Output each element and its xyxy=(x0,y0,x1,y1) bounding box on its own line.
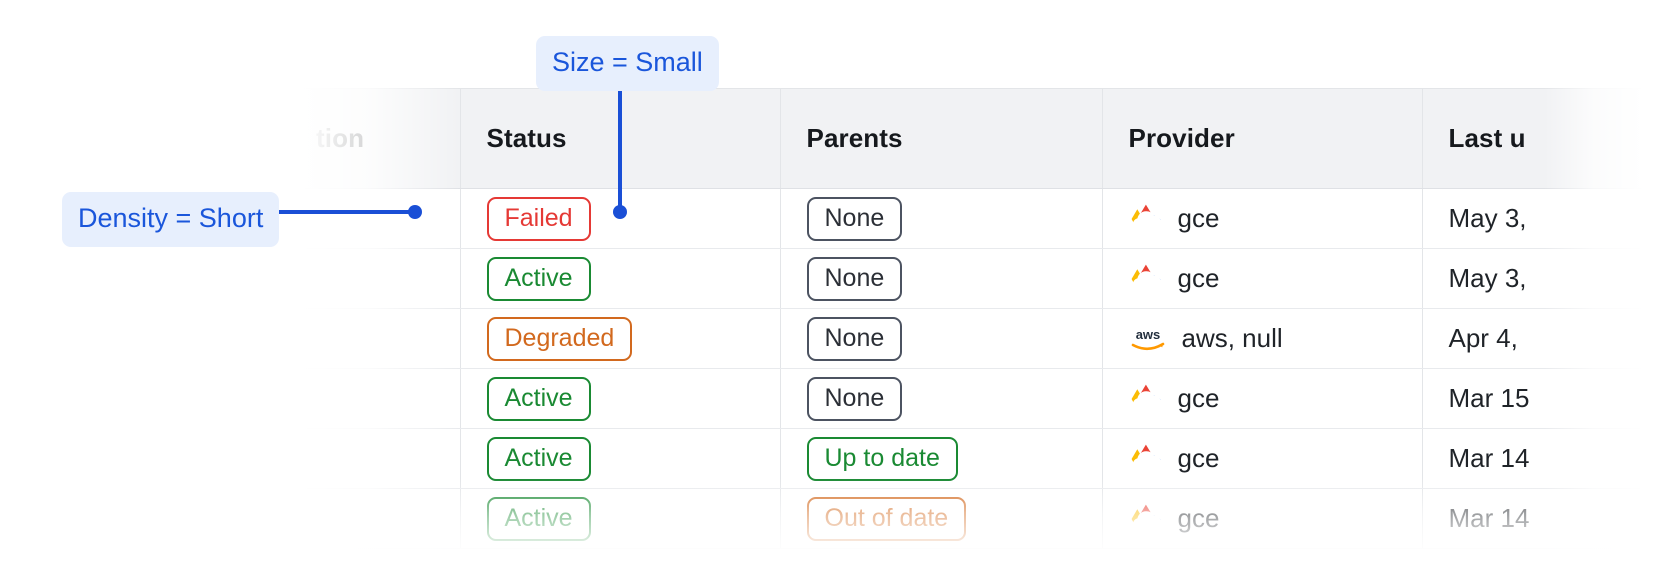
cell-provider: gce xyxy=(1102,429,1422,489)
cell-parents: None xyxy=(780,189,1102,249)
provider-label: gce xyxy=(1178,443,1220,474)
table-row[interactable]: ActiveNonegceMay 3, xyxy=(290,249,1672,309)
cell-last-updated: Mar 14 xyxy=(1422,429,1672,489)
cell-parents: None xyxy=(780,309,1102,369)
column-header-parents[interactable]: Parents xyxy=(780,89,1102,189)
cell-last-updated: Mar 14 xyxy=(1422,489,1672,549)
column-header-description[interactable]: tion xyxy=(290,89,460,189)
status-badge: Failed xyxy=(487,197,591,241)
cell-last-updated: May 3, xyxy=(1422,189,1672,249)
table-row[interactable]: ActiveOut of dategceMar 14 xyxy=(290,489,1672,549)
svg-text:aws: aws xyxy=(1135,327,1160,342)
parents-badge: None xyxy=(807,377,903,421)
table-row[interactable]: DegradedNoneawsaws, nullApr 4, xyxy=(290,309,1672,369)
provider-label: gce xyxy=(1178,263,1220,294)
cell-description xyxy=(290,369,460,429)
cell-parents: None xyxy=(780,369,1102,429)
cell-status: Active xyxy=(460,369,780,429)
cell-status: Active xyxy=(460,249,780,309)
provider-label: gce xyxy=(1178,383,1220,414)
table-row[interactable]: FailedNonegceMay 3, xyxy=(290,189,1672,249)
parents-badge: None xyxy=(807,197,903,241)
density-callout-line xyxy=(272,210,416,214)
cell-provider: awsaws, null xyxy=(1102,309,1422,369)
resources-table: tion Status Parents Provider Last u Fail… xyxy=(290,88,1672,549)
provider-label: aws, null xyxy=(1182,323,1283,354)
cell-provider: gce xyxy=(1102,249,1422,309)
column-header-provider[interactable]: Provider xyxy=(1102,89,1422,189)
cell-description xyxy=(290,189,460,249)
status-badge: Active xyxy=(487,257,591,301)
provider-label: gce xyxy=(1178,503,1220,534)
gcp-cloud-icon xyxy=(1129,264,1163,294)
parents-badge: Up to date xyxy=(807,437,958,481)
cell-description xyxy=(290,429,460,489)
parents-badge: Out of date xyxy=(807,497,967,541)
cell-parents: None xyxy=(780,249,1102,309)
size-callout-dot xyxy=(613,205,627,219)
cell-description xyxy=(290,309,460,369)
cell-provider: gce xyxy=(1102,369,1422,429)
screenshot-root: tion Status Parents Provider Last u Fail… xyxy=(0,0,1672,564)
cell-last-updated: Mar 15 xyxy=(1422,369,1672,429)
column-header-last-updated[interactable]: Last u xyxy=(1422,89,1672,189)
gcp-cloud-icon xyxy=(1129,204,1163,234)
table-row[interactable]: ActiveNonegceMar 15 xyxy=(290,369,1672,429)
cell-last-updated: Apr 4, xyxy=(1422,309,1672,369)
status-badge: Active xyxy=(487,437,591,481)
table-header: tion Status Parents Provider Last u xyxy=(290,89,1672,189)
cell-last-updated: May 3, xyxy=(1422,249,1672,309)
cell-description xyxy=(290,249,460,309)
gcp-cloud-icon xyxy=(1129,504,1163,534)
cell-status: Degraded xyxy=(460,309,780,369)
cell-description xyxy=(290,489,460,549)
gcp-cloud-icon xyxy=(1129,444,1163,474)
density-callout-dot xyxy=(408,205,422,219)
size-callout-line xyxy=(618,78,622,212)
data-table-viewport[interactable]: tion Status Parents Provider Last u Fail… xyxy=(290,88,1672,564)
table-header-row: tion Status Parents Provider Last u xyxy=(290,89,1672,189)
cell-provider: gce xyxy=(1102,189,1422,249)
table-body: FailedNonegceMay 3,ActiveNonegceMay 3,De… xyxy=(290,189,1672,549)
parents-badge: None xyxy=(807,317,903,361)
parents-badge: None xyxy=(807,257,903,301)
cell-status: Active xyxy=(460,489,780,549)
provider-label: gce xyxy=(1178,203,1220,234)
cell-provider: gce xyxy=(1102,489,1422,549)
status-badge: Active xyxy=(487,497,591,541)
cell-status: Active xyxy=(460,429,780,489)
status-badge: Active xyxy=(487,377,591,421)
cell-parents: Out of date xyxy=(780,489,1102,549)
status-badge: Degraded xyxy=(487,317,633,361)
gcp-cloud-icon xyxy=(1129,384,1163,414)
aws-icon: aws xyxy=(1129,325,1167,353)
annotation-density: Density = Short xyxy=(62,192,279,247)
annotation-size: Size = Small xyxy=(536,36,719,91)
table-row[interactable]: ActiveUp to dategceMar 14 xyxy=(290,429,1672,489)
cell-parents: Up to date xyxy=(780,429,1102,489)
